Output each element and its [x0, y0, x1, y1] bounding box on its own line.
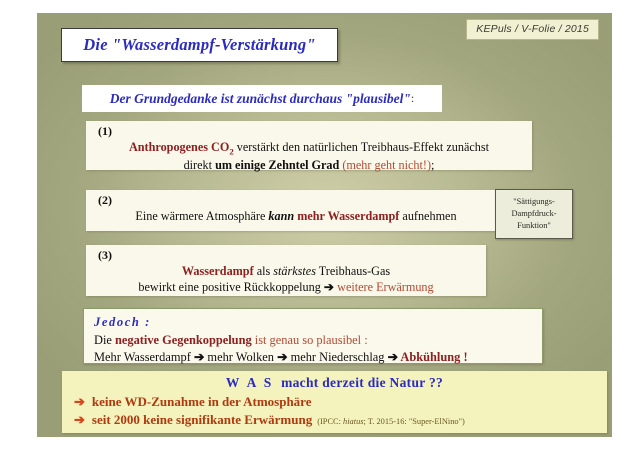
citation-open: (IPCC: — [317, 417, 343, 426]
point-2-text-b: aufnehmen — [399, 209, 456, 223]
arrow-right-icon-3: ➔ — [388, 350, 398, 364]
conclusion-question: W A S macht derzeit die Natur ?? — [62, 375, 607, 391]
jedoch-emph-gegenkoppelung: negative Gegenkoppelung — [115, 333, 252, 347]
conclusion-panel: W A S macht derzeit die Natur ?? ➔keine … — [62, 371, 607, 433]
point-1-text-a: verstärkt den natürlichen Treibhaus-Effe… — [234, 140, 489, 154]
conclusion-row-1: ➔keine WD-Zunahme in der Atmosphäre — [74, 393, 607, 410]
point-2-text-a: Eine wärmere Atmosphäre — [135, 209, 268, 223]
point-2-panel: (2) Eine wärmere Atmosphäre kann mehr Wa… — [86, 190, 506, 231]
point-3-line-1: Wasserdampf als stärkstes Treibhaus-Gas — [86, 264, 486, 280]
jedoch-text-a: Die — [94, 333, 115, 347]
point-1-text-b: direkt — [184, 158, 215, 172]
point-2-emph-kann: kann — [268, 209, 294, 223]
point-3-number: (3) — [98, 248, 486, 263]
jedoch-text-c: Mehr Wasserdampf — [94, 350, 194, 364]
point-1-number: (1) — [98, 124, 532, 139]
conclusion-row-1-text: keine WD-Zunahme in der Atmosphäre — [92, 394, 312, 409]
conclusion-row-2: ➔seit 2000 keine signifikante Erwärmung(… — [74, 411, 607, 428]
point-1-semicolon: ; — [431, 158, 434, 172]
point-3-panel: (3) Wasserdampf als stärkstes Treibhaus-… — [86, 245, 486, 296]
citation-rest: ; T. 2015-16: "Super-ElNino") — [364, 417, 465, 426]
point-1-line-1: Anthropogenes CO2 verstärkt den natürlic… — [86, 140, 532, 158]
sat-line-2: Dampfdruck- — [511, 208, 556, 220]
point-1-emph-zehntel: um einige Zehntel Grad — [215, 158, 339, 172]
jedoch-text-b: ist genau so plausibel : — [252, 333, 368, 347]
conclusion-question-text: macht derzeit die Natur ?? — [281, 375, 443, 390]
jedoch-heading: Jedoch : — [94, 314, 542, 331]
arrow-right-icon-2: ➔ — [277, 350, 287, 364]
saturation-note-box: "Sättigungs- Dampfdruck- Funktion" — [495, 189, 573, 239]
jedoch-emph-abkuehlung: Abkühlung ! — [398, 350, 468, 364]
point-3-emph-wasserdampf: Wasserdampf — [182, 264, 254, 278]
point-3-emph-staerkstes: stärkstes — [273, 264, 316, 278]
point-3-line-2: bewirkt eine positive Rückkoppelung ➔ we… — [86, 280, 486, 296]
subtitle-colon: : — [411, 91, 414, 106]
point-3-result: weitere Erwärmung — [334, 280, 434, 294]
point-1-line-2: direkt um einige Zehntel Grad (mehr geht… — [86, 158, 532, 174]
point-2-emph-wasserdampf: mehr Wasserdampf — [297, 209, 399, 223]
arrow-right-icon-1: ➔ — [194, 350, 204, 364]
point-1-emph-co2: Anthropogenes CO — [129, 140, 229, 154]
conclusion-row-2-text: seit 2000 keine signifikante Erwärmung — [92, 412, 312, 427]
slide-badge: KEPuls / V-Folie / 2015 — [466, 19, 599, 40]
point-1-panel: (1) Anthropogenes CO2 verstärkt den natü… — [86, 121, 532, 170]
jedoch-line-2: Mehr Wasserdampf ➔ mehr Wolken ➔ mehr Ni… — [94, 349, 542, 366]
jedoch-line-1: Die negative Gegenkoppelung ist genau so… — [94, 332, 542, 349]
subtitle-text: Der Grundgedanke ist zunächst durchaus "… — [110, 91, 411, 107]
point-3-text-c: bewirkt eine positive Rückkoppelung — [138, 280, 324, 294]
point-3-text-a: als — [254, 264, 274, 278]
sat-line-1: "Sättigungs- — [513, 196, 555, 208]
citation-hiatus: hiatus — [343, 417, 363, 426]
arrow-right-icon: ➔ — [324, 280, 334, 294]
point-1-aside: (mehr geht nicht!) — [342, 158, 431, 172]
jedoch-panel: Jedoch : Die negative Gegenkoppelung ist… — [83, 308, 543, 364]
jedoch-text-e: mehr Niederschlag — [287, 350, 387, 364]
slide-title-box: Die "Wasserdampf-Verstärkung" — [61, 28, 338, 62]
arrow-right-icon-bullet-2: ➔ — [74, 412, 85, 427]
subtitle-box: Der Grundgedanke ist zunächst durchaus "… — [82, 85, 442, 112]
point-2-line-1: Eine wärmere Atmosphäre kann mehr Wasser… — [86, 209, 506, 225]
conclusion-citation: (IPCC: hiatus; T. 2015-16: "Super-ElNino… — [317, 417, 465, 426]
sat-line-3: Funktion" — [517, 220, 551, 232]
point-3-text-b: Treibhaus-Gas — [316, 264, 390, 278]
point-2-number: (2) — [98, 193, 506, 208]
conclusion-was: W A S — [226, 375, 274, 390]
arrow-right-icon-bullet-1: ➔ — [74, 394, 85, 409]
jedoch-text-d: mehr Wolken — [204, 350, 277, 364]
slide-canvas: KEPuls / V-Folie / 2015 Die "Wasserdampf… — [37, 13, 612, 437]
page-title: Die "Wasserdampf-Verstärkung" — [83, 35, 315, 55]
